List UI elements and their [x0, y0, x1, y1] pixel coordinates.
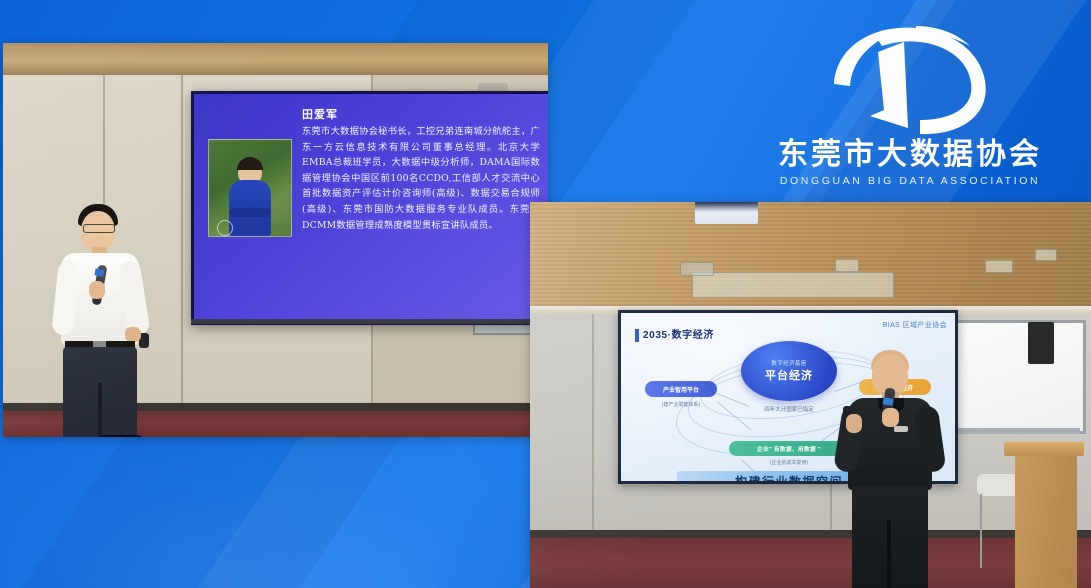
glasses-icon [83, 224, 115, 233]
trouser-seam [887, 520, 891, 588]
ceiling [3, 43, 548, 75]
slide-portrait-photo [208, 139, 292, 237]
air-vent [692, 272, 894, 298]
slide-speaker-bio-text: 东莞市大数据协会秘书长，工控兄弟连南城分航舵主，广东一方云信息技术有限公司董事总… [302, 124, 540, 233]
presentation-collage: 东莞市大数据协会 DONGGUAN BIG DATA ASSOCIATION [0, 0, 1091, 588]
right-speaker-hand [846, 414, 862, 433]
lectern-top [1004, 442, 1084, 456]
slide-corp-logo: BIAS 区域产业协会 [883, 320, 947, 330]
photo-right-speaker: 2035·数字经济 BIAS 区域产业协会 数字经济基座 平台经济 四年大计国家… [530, 202, 1091, 588]
lectern [1015, 450, 1077, 588]
screen-rail [191, 319, 548, 324]
node-left-caption: (建产业赋能体系) [645, 401, 717, 408]
title-accent-bar [635, 329, 639, 342]
association-logo: 东莞市大数据协会 DONGGUAN BIG DATA ASSOCIATION [752, 24, 1068, 188]
node-mid-pill: 企业" 有数据、用数据 " [729, 441, 849, 456]
carpet-floor [530, 538, 1091, 588]
slide-speaker-bio: 田爱军 东莞市大数据协会秘书长，工控兄弟连南城分航舵主，广东一方云信息技术有限公… [194, 94, 548, 322]
center-node: 数字经济基座 平台经济 [741, 341, 837, 401]
center-node-title: 平台经济 [765, 367, 813, 383]
air-vent [985, 260, 1013, 273]
left-speaker-hand [125, 327, 141, 342]
photo-left-speaker: 田爱军 东莞市大数据协会秘书长，工控兄弟连南城分航舵主，广东一方云信息技术有限公… [3, 43, 548, 437]
ceiling-banner [695, 202, 758, 224]
dongguan-bda-d-monogram-icon [812, 24, 1002, 136]
wristwatch-icon [894, 426, 908, 432]
air-vent [1035, 249, 1057, 261]
microphone-band [883, 397, 894, 405]
shoe [99, 435, 145, 437]
microphone-band [94, 268, 104, 276]
air-vent [835, 259, 859, 272]
baseboard [530, 530, 1091, 538]
slide-title: 2035·数字经济 [643, 326, 714, 341]
stool-leg [980, 494, 982, 568]
trouser-seam [98, 383, 102, 437]
logo-name-en: DONGGUAN BIG DATA ASSOCIATION [752, 176, 1068, 187]
wall-speaker-icon [1028, 322, 1054, 364]
node-left-pill: 产业智用平台 [645, 381, 717, 397]
air-vent [680, 262, 714, 276]
center-node-subtitle: 数字经济基座 [771, 359, 806, 367]
projection-screen-left: 田爱军 东莞市大数据协会秘书长，工控兄弟连南城分航舵主，广东一方云信息技术有限公… [191, 91, 548, 325]
portrait-hair [237, 157, 263, 170]
slide-speaker-name: 田爱军 [302, 106, 338, 122]
right-speaker-hand [882, 408, 899, 427]
portrait-arms [229, 208, 271, 217]
key-bar-title: 构建行业数据空间 [735, 473, 843, 484]
portrait-badge-icon [217, 220, 233, 236]
wall-seam [181, 75, 183, 411]
wall-seam [592, 314, 594, 536]
left-speaker-hand [89, 281, 105, 299]
center-node-caption: 四年大计国家已指定 [741, 405, 837, 413]
logo-name-cn: 东莞市大数据协会 [752, 140, 1068, 170]
